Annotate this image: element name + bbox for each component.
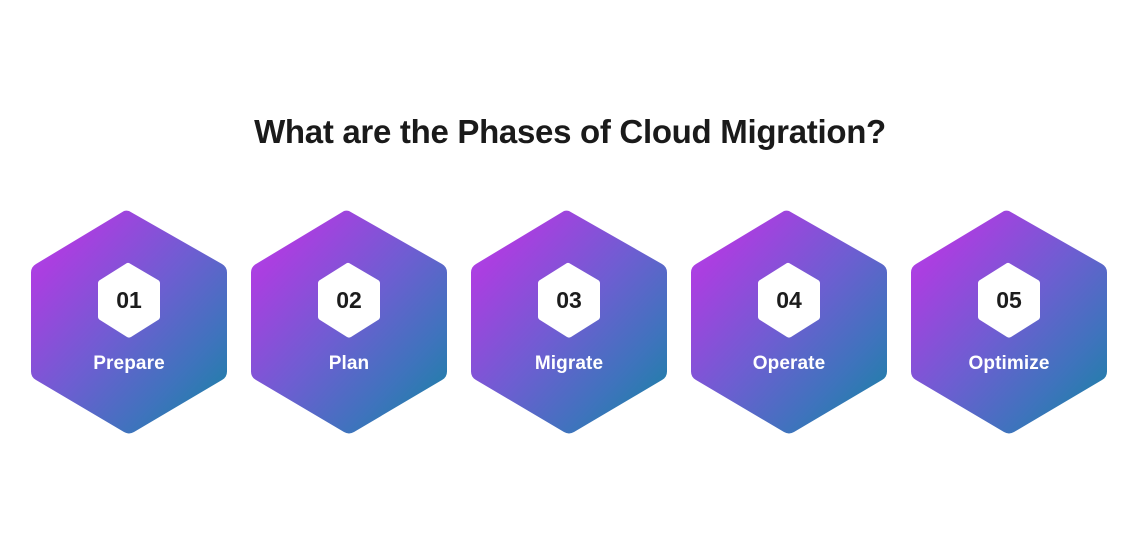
phase-number-badge: 02	[316, 262, 382, 338]
phase-label: Operate	[689, 353, 889, 375]
phase-number-badge: 03	[536, 262, 602, 338]
phase-hexagon[interactable]: 03 Migrate	[469, 209, 669, 435]
phase-hexagon[interactable]: 02 Plan	[249, 209, 449, 435]
phase-hexagon[interactable]: 05 Optimize	[909, 209, 1109, 435]
phase-number: 01	[96, 262, 162, 338]
phase-number-badge: 01	[96, 262, 162, 338]
phase-number-badge: 04	[756, 262, 822, 338]
page-title: What are the Phases of Cloud Migration?	[0, 112, 1140, 152]
phase-label: Prepare	[29, 353, 229, 375]
phase-number-badge: 05	[976, 262, 1042, 338]
phase-number: 02	[316, 262, 382, 338]
phase-hexagon-row: 01 Prepare	[0, 209, 1140, 435]
phase-hexagon[interactable]: 01 Prepare	[29, 209, 229, 435]
phase-hexagon[interactable]: 04 Operate	[689, 209, 889, 435]
phase-label: Migrate	[469, 353, 669, 375]
cloud-migration-infographic: What are the Phases of Cloud Migration?	[0, 0, 1140, 550]
phase-number: 03	[536, 262, 602, 338]
phase-number: 05	[976, 262, 1042, 338]
phase-number: 04	[756, 262, 822, 338]
phase-label: Optimize	[909, 353, 1109, 375]
phase-label: Plan	[249, 353, 449, 375]
